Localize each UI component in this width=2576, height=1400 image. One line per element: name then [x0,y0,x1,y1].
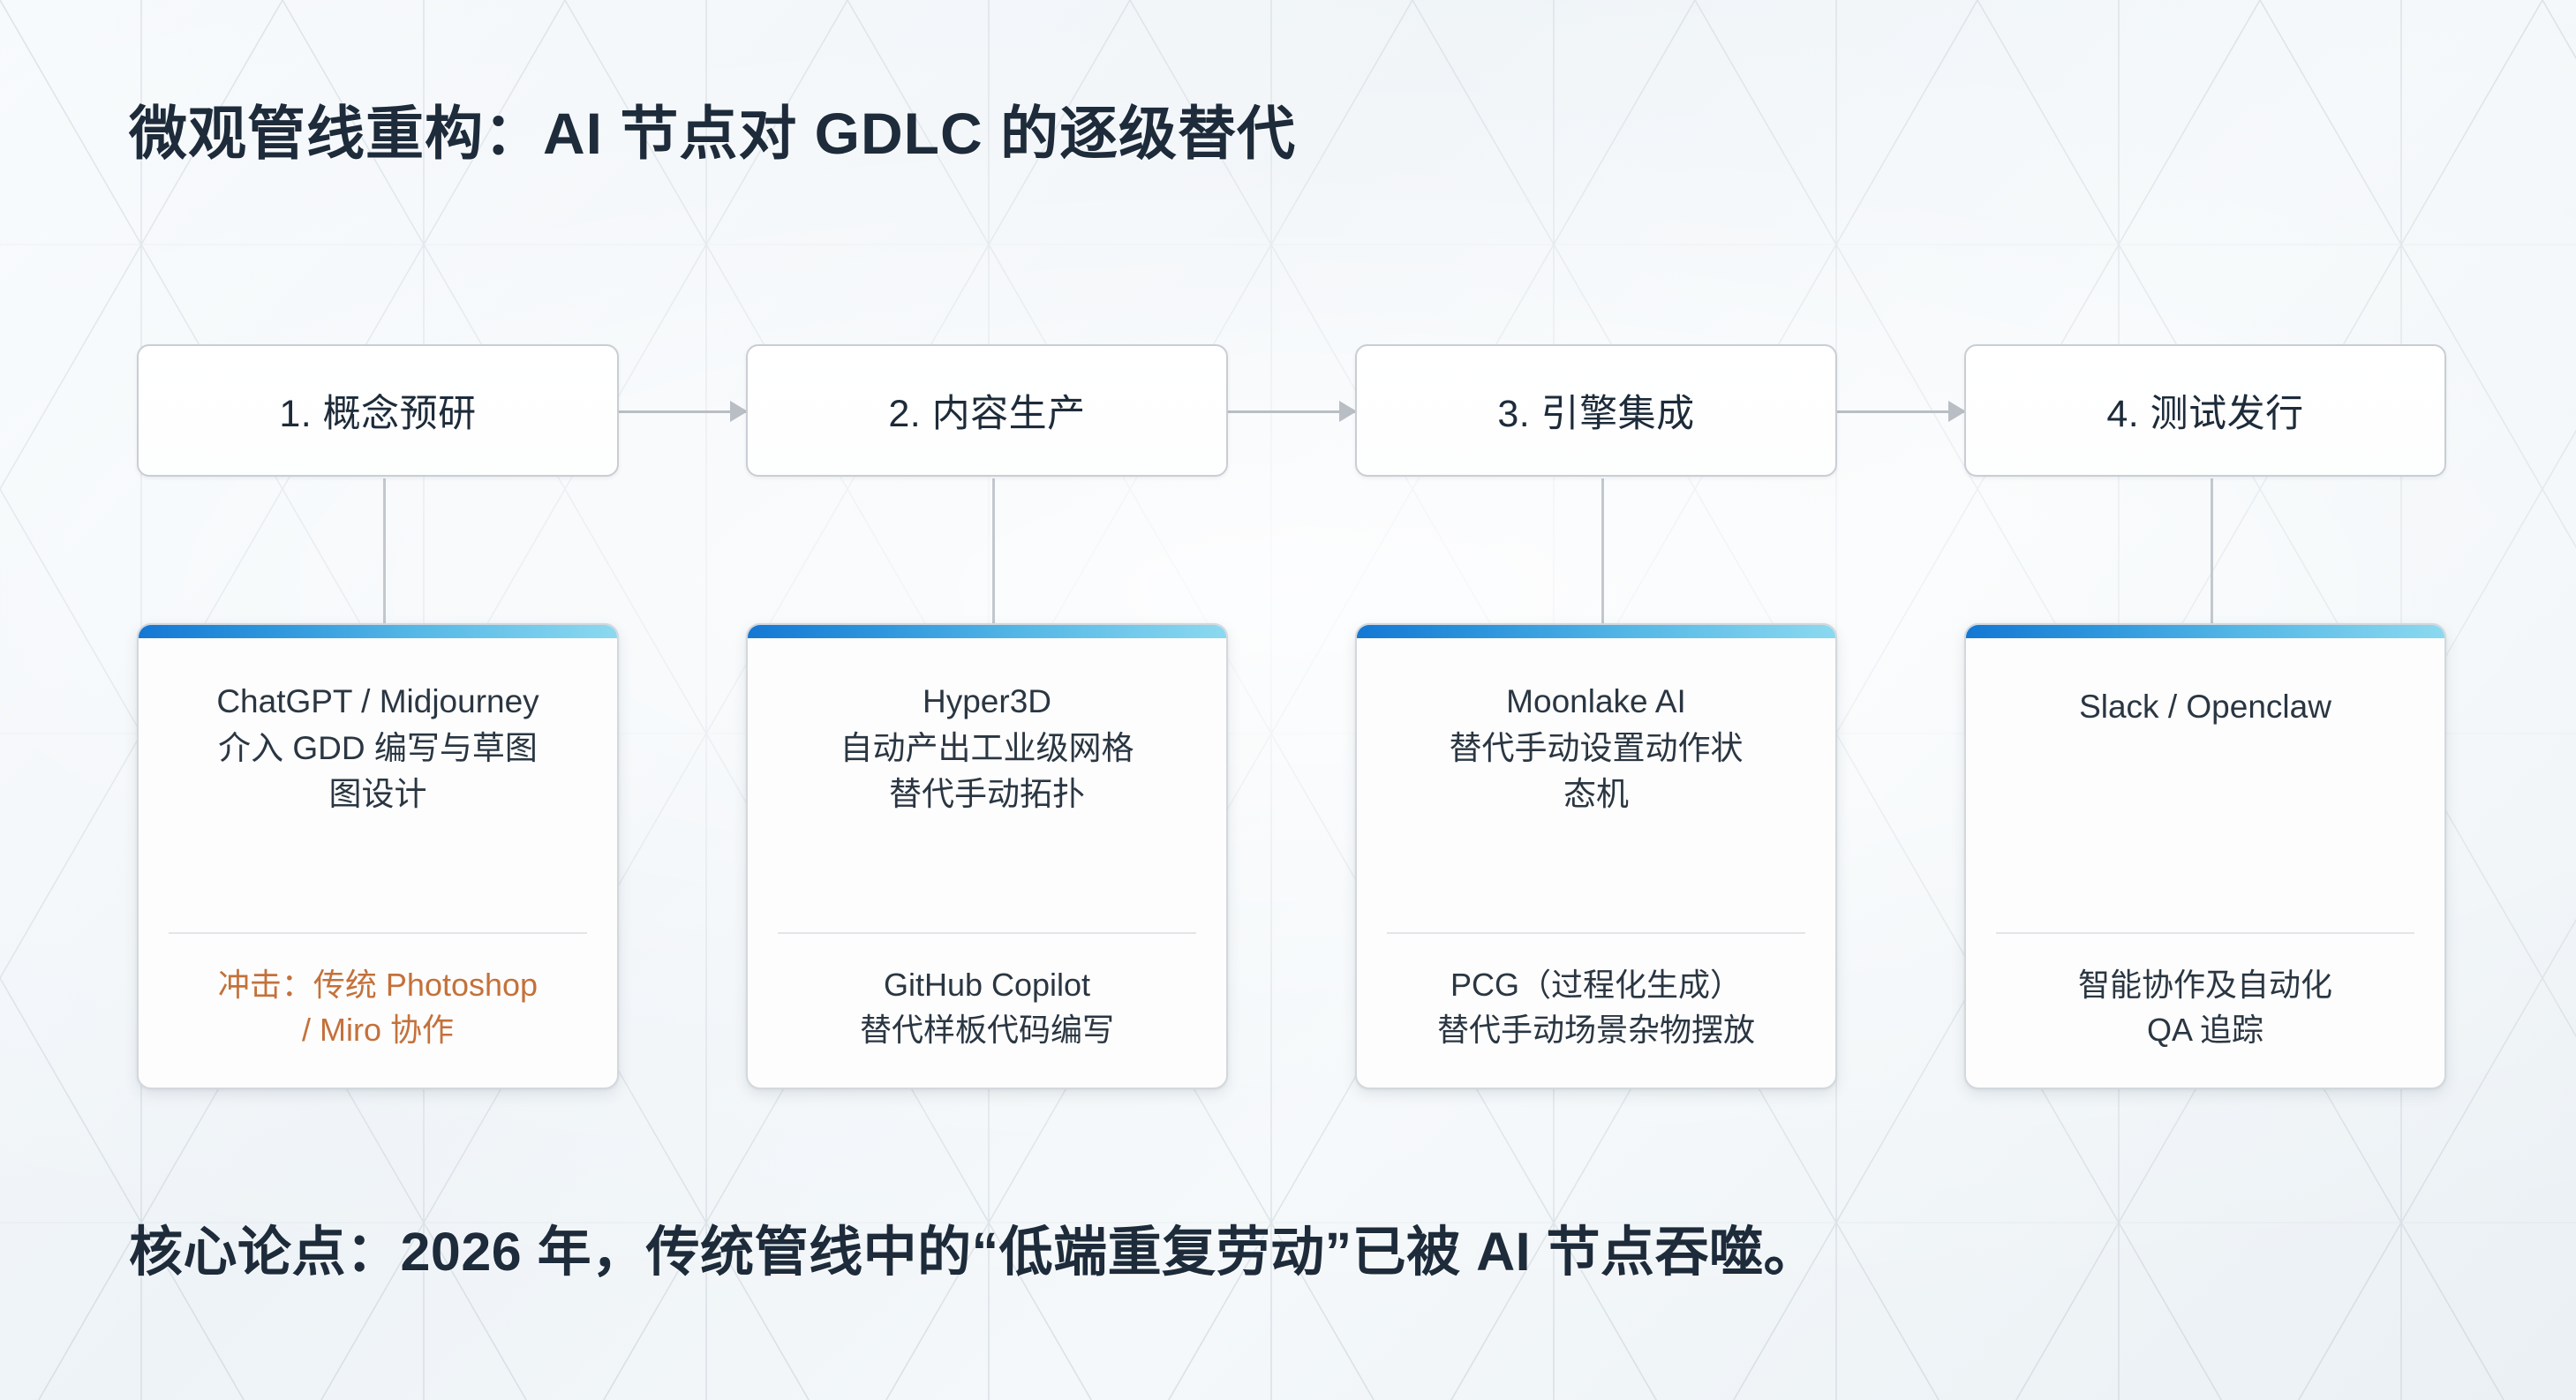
connector-line-stage-3 [1601,478,1604,623]
stage-box-2[interactable]: 2. 内容生产 [746,344,1228,477]
card-primary-text-1: ChatGPT / Midjourney 介入 GDD 编写与草图 图设计 [162,638,594,818]
stage-box-4[interactable]: 4. 测试发行 [1964,344,2446,477]
card-primary-line: 替代手动拓扑 [771,772,1203,818]
arrow-stage-2-to-3 [1227,410,1356,412]
card-primary-line: Slack / Openclaw [1989,684,2422,731]
card-body: Moonlake AI 替代手动设置动作状 态机 PCG（过程化生成） 替代手动… [1357,638,1835,1088]
arrow-stage-1-to-2 [618,410,747,412]
card-secondary-line: 替代样板代码编写 [771,1007,1203,1052]
card-primary-line: 态机 [1380,772,1812,818]
stage-label-2: 2. 内容生产 [888,383,1085,438]
arrow-head-icon [1339,401,1357,422]
card-accent-bar [1966,625,2444,638]
card-secondary-line: PCG（过程化生成） [1380,962,1812,1007]
card-accent-bar [748,625,1226,638]
card-body: Slack / Openclaw 智能协作及自动化 QA 追踪 [1966,638,2444,1088]
card-spacer [1380,818,1812,932]
arrow-stage-3-to-4 [1836,410,1965,412]
card-primary-text-2: Hyper3D 自动产出工业级网格 替代手动拓扑 [771,638,1203,818]
card-secondary-line: GitHub Copilot [771,962,1203,1007]
card-secondary-line: 冲击：传统 Photoshop [162,962,594,1007]
page-title: 微观管线重构：AI 节点对 GDLC 的逐级替代 [129,87,1296,171]
stage-label-4: 4. 测试发行 [2106,383,2303,438]
card-primary-line: 图设计 [162,772,594,818]
card-spacer [162,818,594,932]
card-body: ChatGPT / Midjourney 介入 GDD 编写与草图 图设计 冲击… [139,638,617,1088]
card-secondary-text-4: 智能协作及自动化 QA 追踪 [1989,934,2422,1088]
card-secondary-text-2: GitHub Copilot 替代样板代码编写 [771,934,1203,1088]
arrow-shaft [618,410,747,413]
card-primary-text-4: Slack / Openclaw [1989,638,2422,731]
card-primary-line: Hyper3D [771,679,1203,726]
card-body: Hyper3D 自动产出工业级网格 替代手动拓扑 GitHub Copilot … [748,638,1226,1088]
card-primary-line: ChatGPT / Midjourney [162,679,594,726]
card-spacer [1989,731,2422,932]
card-secondary-line: 智能协作及自动化 [1989,962,2422,1007]
card-secondary-line: QA 追踪 [1989,1007,2422,1052]
card-spacer [771,818,1203,932]
arrow-shaft [1836,410,1965,413]
stage-label-1: 1. 概念预研 [279,383,476,438]
detail-card-2[interactable]: Hyper3D 自动产出工业级网格 替代手动拓扑 GitHub Copilot … [746,623,1228,1089]
card-primary-line: 自动产出工业级网格 [771,726,1203,772]
conclusion-statement: 核心论点：2026 年，传统管线中的“低端重复劳动”已被 AI 节点吞噬。 [129,1208,1818,1286]
card-secondary-text-3: PCG（过程化生成） 替代手动场景杂物摆放 [1380,934,1812,1088]
detail-card-4[interactable]: Slack / Openclaw 智能协作及自动化 QA 追踪 [1964,623,2446,1089]
card-accent-bar [1357,625,1835,638]
card-primary-line: Moonlake AI [1380,679,1812,726]
arrow-head-icon [1948,401,1966,422]
detail-card-1[interactable]: ChatGPT / Midjourney 介入 GDD 编写与草图 图设计 冲击… [137,623,619,1089]
connector-line-stage-1 [383,478,386,623]
stage-box-3[interactable]: 3. 引擎集成 [1355,344,1837,477]
connector-line-stage-4 [2211,478,2213,623]
card-secondary-text-1: 冲击：传统 Photoshop / Miro 协作 [162,934,594,1088]
card-primary-line: 介入 GDD 编写与草图 [162,726,594,772]
card-secondary-line: 替代手动场景杂物摆放 [1380,1007,1812,1052]
card-secondary-line: / Miro 协作 [162,1007,594,1052]
card-primary-line: 替代手动设置动作状 [1380,726,1812,772]
card-primary-text-3: Moonlake AI 替代手动设置动作状 态机 [1380,638,1812,818]
slide-root: 微观管线重构：AI 节点对 GDLC 的逐级替代 1. 概念预研 ChatGPT… [0,0,2576,1400]
arrow-shaft [1227,410,1356,413]
stage-label-3: 3. 引擎集成 [1497,383,1694,438]
connector-line-stage-2 [992,478,995,623]
card-accent-bar [139,625,617,638]
stage-box-1[interactable]: 1. 概念预研 [137,344,619,477]
arrow-head-icon [730,401,748,422]
detail-card-3[interactable]: Moonlake AI 替代手动设置动作状 态机 PCG（过程化生成） 替代手动… [1355,623,1837,1089]
